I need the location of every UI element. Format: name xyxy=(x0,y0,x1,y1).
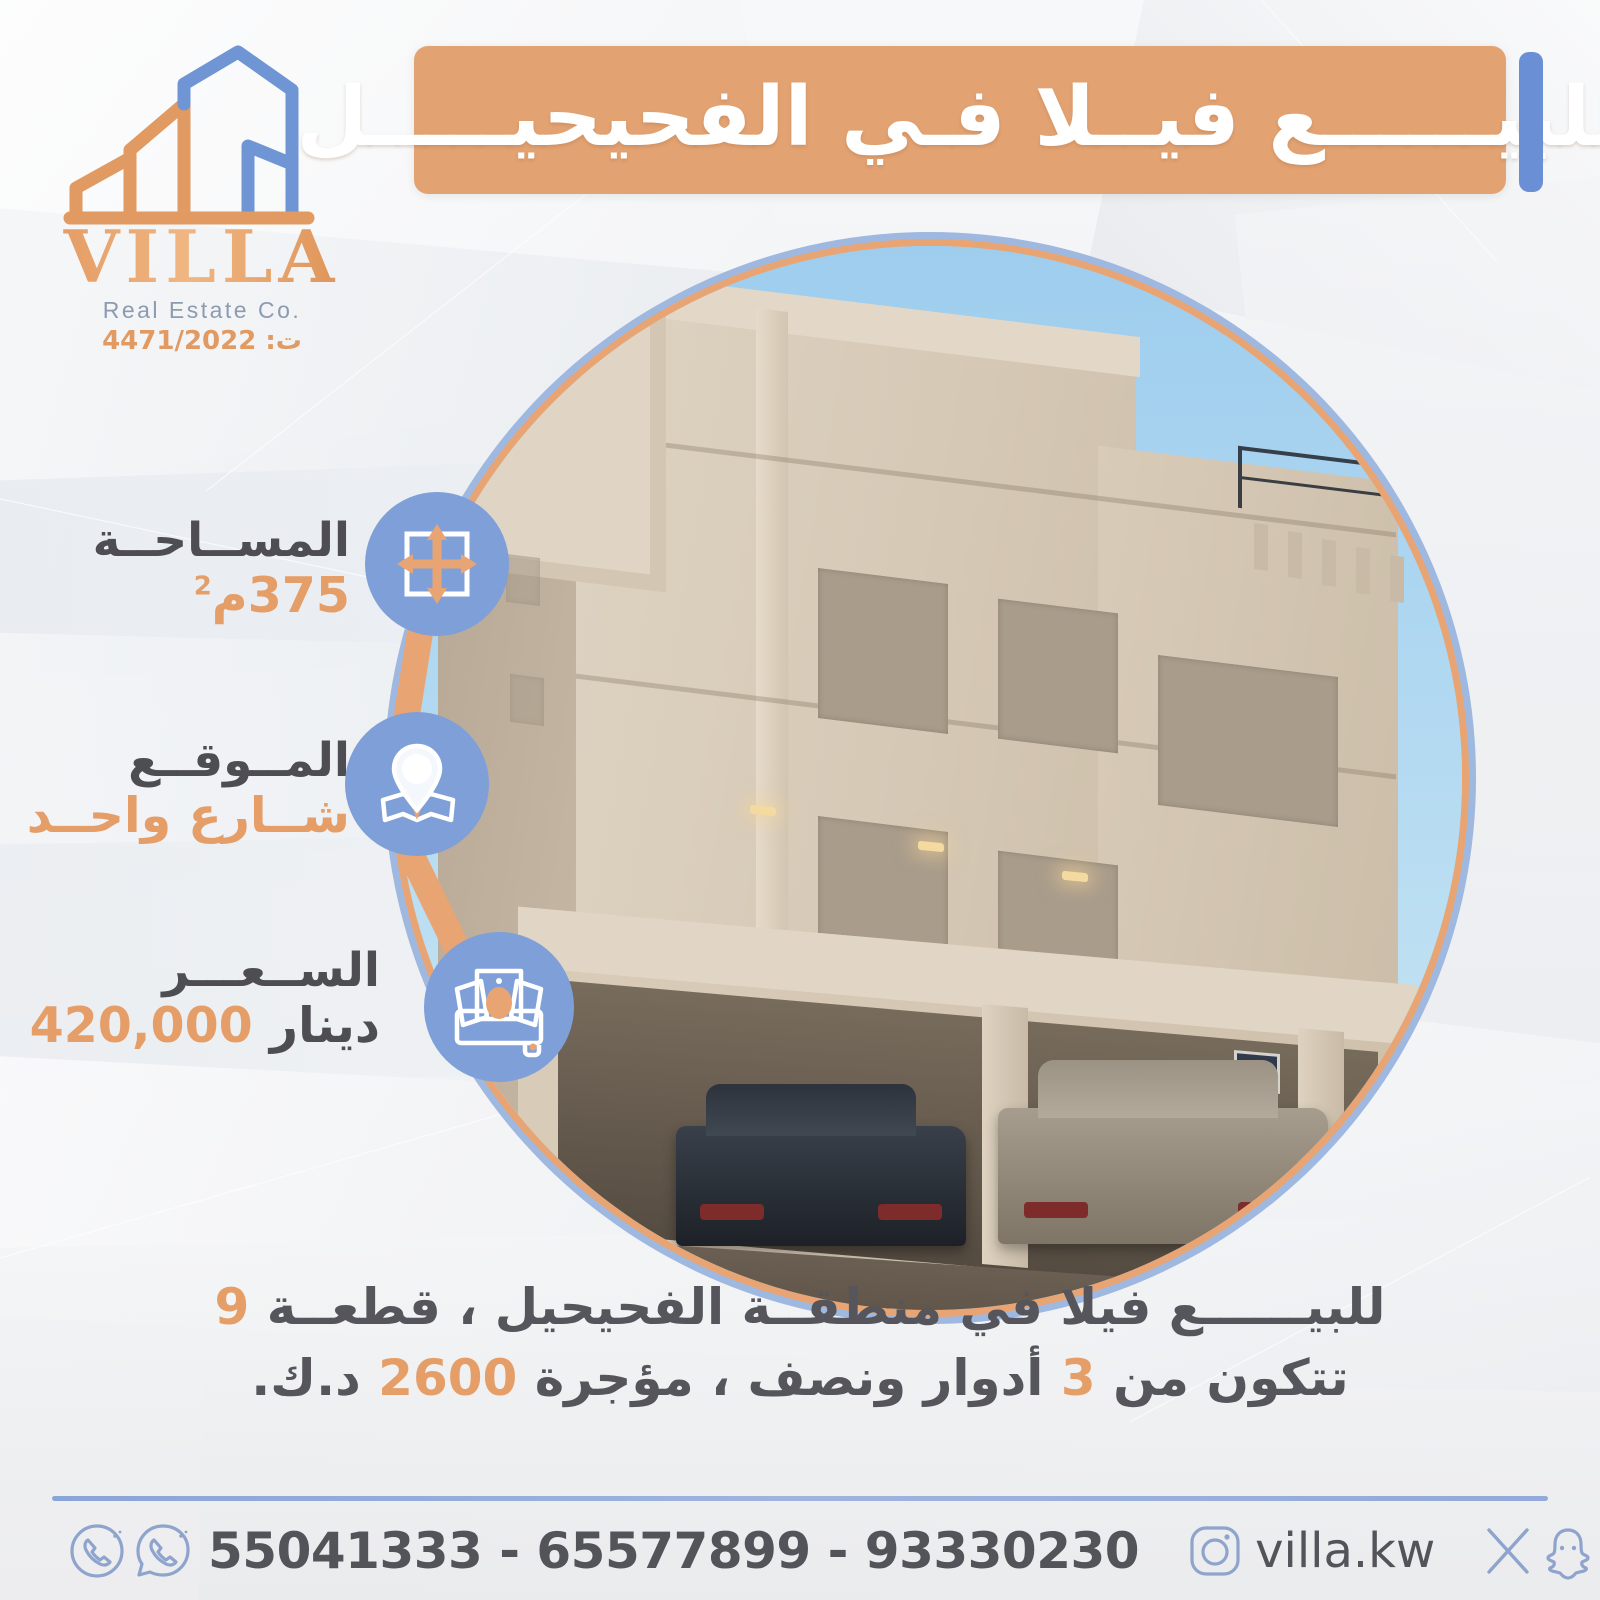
feature-area: المســاحــة 375م2 xyxy=(0,516,350,624)
description-text-2a: تتكون من xyxy=(1113,1349,1349,1407)
snapchat-ghost-icon[interactable] xyxy=(1539,1522,1597,1580)
car-taillight xyxy=(700,1204,764,1220)
parked-car-dark xyxy=(676,1126,966,1246)
feature-location-value: شــارع واحــد xyxy=(0,789,350,844)
villa-window xyxy=(818,568,948,734)
phone-numbers[interactable]: 55041333 - 65577899 - 93330230 xyxy=(208,1522,1139,1580)
feature-area-label: المســاحــة xyxy=(0,516,350,565)
description-plot-number: 9 xyxy=(215,1278,250,1336)
feature-price-label: الســعـــر xyxy=(0,946,380,995)
feature-price-number: 420,000 xyxy=(30,997,253,1054)
parapet-merlon xyxy=(1322,539,1336,587)
whatsapp-icon[interactable] xyxy=(132,1520,194,1582)
footer-contact-bar: 55041333 - 65577899 - 93330230 villa.kw … xyxy=(52,1512,1552,1590)
phone-call-icon[interactable] xyxy=(66,1520,128,1582)
description-text-2b: أدوار ونصف ، مؤجرة xyxy=(535,1349,1044,1407)
villa-window xyxy=(510,674,544,726)
description-text-1: للبيــــــع فيلا في منطقــة الفحيحيل ، ق… xyxy=(267,1278,1386,1336)
property-photo xyxy=(398,246,1462,1310)
photo-inner-ring xyxy=(391,239,1469,1317)
footer-divider xyxy=(52,1496,1548,1501)
description-rent-amount: 2600 xyxy=(378,1349,517,1407)
x-twitter-icon[interactable] xyxy=(1479,1522,1537,1580)
car-taillight xyxy=(1238,1202,1302,1218)
feature-price-currency: دينار xyxy=(270,997,380,1054)
feature-price: الســعـــر دينار 420,000 xyxy=(0,946,380,1054)
villa-window xyxy=(818,816,948,952)
villa-pilaster xyxy=(756,308,788,1012)
car-taillight xyxy=(1024,1202,1088,1218)
phone-contact-group[interactable]: 55041333 - 65577899 - 93330230 xyxy=(66,1520,1139,1582)
feature-location-label: المــوقــع xyxy=(0,736,350,785)
parapet-merlon xyxy=(1254,523,1268,571)
x-snapchat-contact[interactable]: villa_kw xyxy=(1479,1522,1600,1580)
header-banner: للبيــــــع فيــلا فـي الفحيحيـــــل xyxy=(414,46,1506,194)
property-photo-frame xyxy=(384,232,1476,1324)
instagram-handle[interactable]: villa.kw xyxy=(1255,1523,1435,1579)
logo-subtitle: Real Estate Co. xyxy=(52,297,352,324)
header-accent-bar xyxy=(1519,52,1543,192)
instagram-icon[interactable] xyxy=(1185,1521,1245,1581)
villa-window xyxy=(506,554,540,606)
instagram-contact[interactable]: villa.kw xyxy=(1185,1521,1435,1581)
feature-area-unit-sup: 2 xyxy=(194,572,212,602)
feature-area-value: 375م2 xyxy=(0,569,350,624)
logo-wordmark: VILLA xyxy=(52,222,352,293)
parapet-merlon xyxy=(1390,555,1404,603)
feature-area-number: 375م xyxy=(212,567,350,624)
money-wallet-icon xyxy=(424,932,574,1082)
page-title: للبيــــــع فيــلا فـي الفحيحيـــــل xyxy=(296,77,1600,159)
property-description: للبيــــــع فيلا في منطقــة الفحيحيل ، ق… xyxy=(120,1272,1480,1414)
description-line-2: تتكون من 3 أدوار ونصف ، مؤجرة 2600 د.ك. xyxy=(120,1343,1480,1414)
villa-window xyxy=(1158,655,1338,827)
area-resize-icon xyxy=(365,492,509,636)
parked-car-light xyxy=(998,1108,1328,1244)
parapet-merlon xyxy=(1288,531,1302,579)
feature-location: المــوقــع شــارع واحــد xyxy=(0,736,350,844)
parapet-merlon xyxy=(1356,547,1370,595)
description-floor-count: 3 xyxy=(1061,1349,1096,1407)
poster-canvas: VILLA Real Estate Co. ت: 4471/2022 للبيـ… xyxy=(0,0,1600,1600)
description-currency: د.ك. xyxy=(251,1349,360,1407)
car-taillight xyxy=(878,1204,942,1220)
feature-price-value: دينار 420,000 xyxy=(0,999,380,1054)
map-location-pin-icon xyxy=(345,712,489,856)
description-line-1: للبيــــــع فيلا في منطقــة الفحيحيل ، ق… xyxy=(120,1272,1480,1343)
villa-window xyxy=(998,599,1118,754)
logo-license-number: ت: 4471/2022 xyxy=(52,326,352,356)
